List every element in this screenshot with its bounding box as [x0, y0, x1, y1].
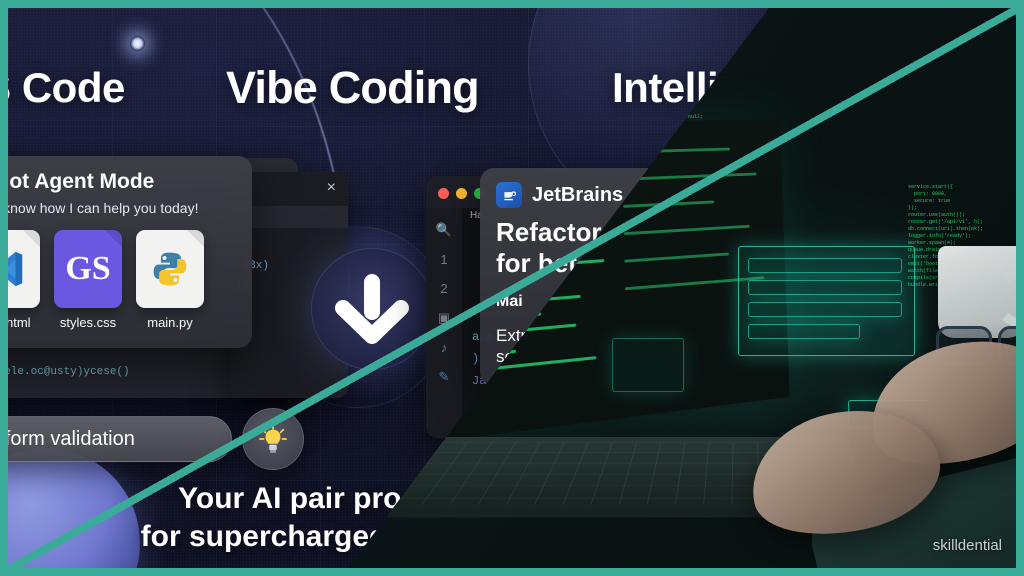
vscode-file-icon: [8, 230, 40, 308]
transform-arrow-button[interactable]: [311, 248, 433, 370]
page-fold: [187, 230, 204, 247]
file-label: styles.css: [54, 315, 122, 330]
left-editor-snippet: p.js.vtele.oc@usty)ycese(): [8, 366, 130, 378]
file-item-css[interactable]: GS styles.css: [54, 230, 122, 330]
python-file-icon: [136, 230, 204, 308]
arrow-down-icon: [333, 268, 411, 350]
hud-row: [748, 258, 902, 273]
suggestion-button[interactable]: [242, 408, 304, 470]
file-item-python[interactable]: main.py: [136, 230, 204, 330]
file-chip-list: dex.html GS styles.css: [8, 230, 236, 330]
hud-row: [748, 302, 902, 317]
heading-vibe-coding: Vibe Coding: [226, 62, 479, 114]
search-icon[interactable]: 🔍: [436, 222, 452, 238]
page-fold: [105, 230, 122, 247]
minimize-traffic-light[interactable]: [456, 188, 467, 199]
hud-row: [748, 280, 902, 295]
prompt-input-left[interactable]: dd form validation: [8, 416, 232, 462]
close-icon[interactable]: ×: [327, 180, 336, 196]
ide-sidebar-rail: 🔍 1 2 ▣ ♪ ✎: [426, 208, 462, 438]
file-item-html[interactable]: dex.html: [8, 230, 40, 330]
lightbulb-icon: [258, 423, 288, 455]
page-fold: [23, 230, 40, 247]
hud-side-panel: [612, 338, 684, 392]
line-number-1: 1: [440, 252, 447, 267]
slide-inner: /S Code Vibe Coding Intelli × -]3x) () p…: [8, 8, 1016, 568]
brush-icon[interactable]: ✎: [439, 369, 450, 385]
prompt-left-value: dd form validation: [8, 428, 135, 451]
coffee-mug: [938, 246, 1016, 338]
watermark: skilldential: [933, 537, 1002, 554]
close-traffic-light[interactable]: [438, 188, 449, 199]
file-label: main.py: [136, 315, 204, 330]
file-label: dex.html: [8, 315, 40, 330]
jetbrains-logo-icon: [496, 182, 522, 208]
hud-row: [748, 324, 860, 339]
traffic-lights: [438, 188, 485, 199]
copilot-agent-card: opilot Agent Mode t me know how I can he…: [8, 156, 252, 348]
layout-icon[interactable]: ▣: [438, 310, 450, 326]
heading-vscode: /S Code: [8, 64, 125, 112]
css-file-icon: GS: [54, 230, 122, 308]
slide-canvas: /S Code Vibe Coding Intelli × -]3x) () p…: [0, 0, 1024, 576]
copilot-card-subtitle: t me know how I can help you today!: [8, 200, 236, 216]
copilot-card-title: opilot Agent Mode: [8, 170, 236, 194]
jetbrains-brand-label: JetBrains: [532, 184, 623, 207]
music-icon[interactable]: ♪: [441, 340, 448, 355]
comet-head-glow: [130, 36, 145, 51]
line-number-2: 2: [440, 281, 447, 296]
